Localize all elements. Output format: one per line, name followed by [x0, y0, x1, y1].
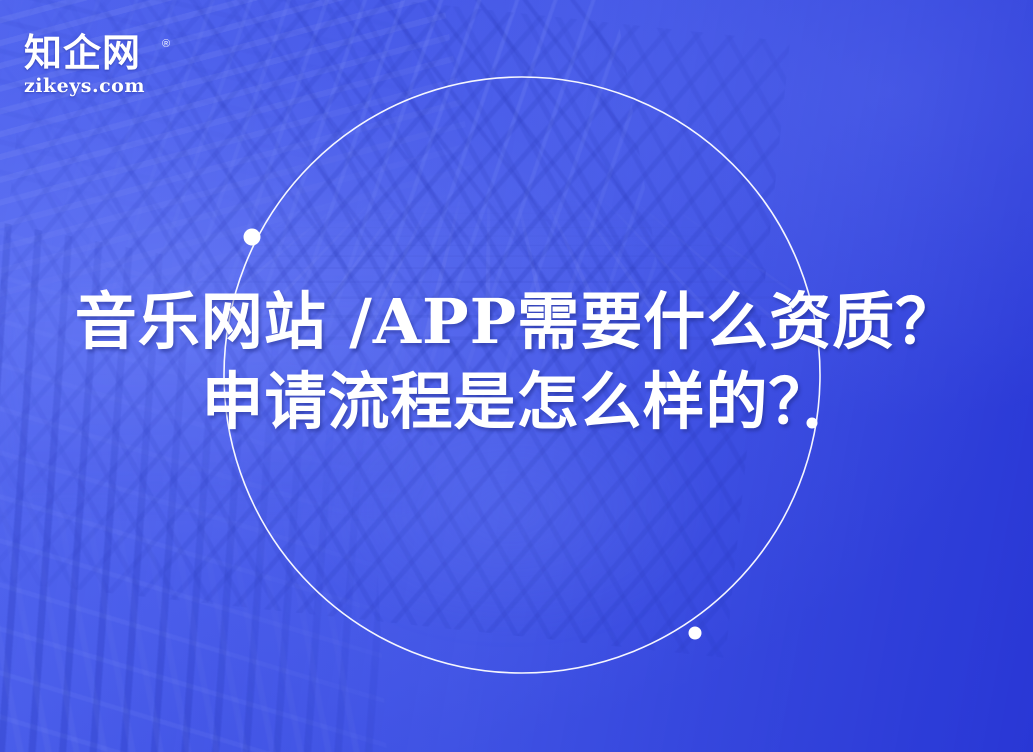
- brand-logo-mark: 知企网: [24, 34, 174, 72]
- page-title-line-2: 申请流程是怎么样的？: [0, 362, 1033, 442]
- banner-image: 知企网 ® zikeys.com 音乐网站 /APP需要什么资质？ 申请流程是怎…: [0, 0, 1033, 752]
- page-title: 音乐网站 /APP需要什么资质？ 申请流程是怎么样的？: [0, 282, 1033, 442]
- ring-dot-upper-left-icon: [244, 229, 261, 246]
- brand-logo[interactable]: 知企网 ® zikeys.com: [24, 34, 174, 96]
- ring-dot-lower-right-icon: [689, 627, 702, 640]
- page-title-line-1: 音乐网站 /APP需要什么资质？: [0, 282, 1033, 362]
- registered-trademark-icon: ®: [162, 38, 170, 50]
- brand-logo-domain: zikeys.com: [24, 77, 174, 96]
